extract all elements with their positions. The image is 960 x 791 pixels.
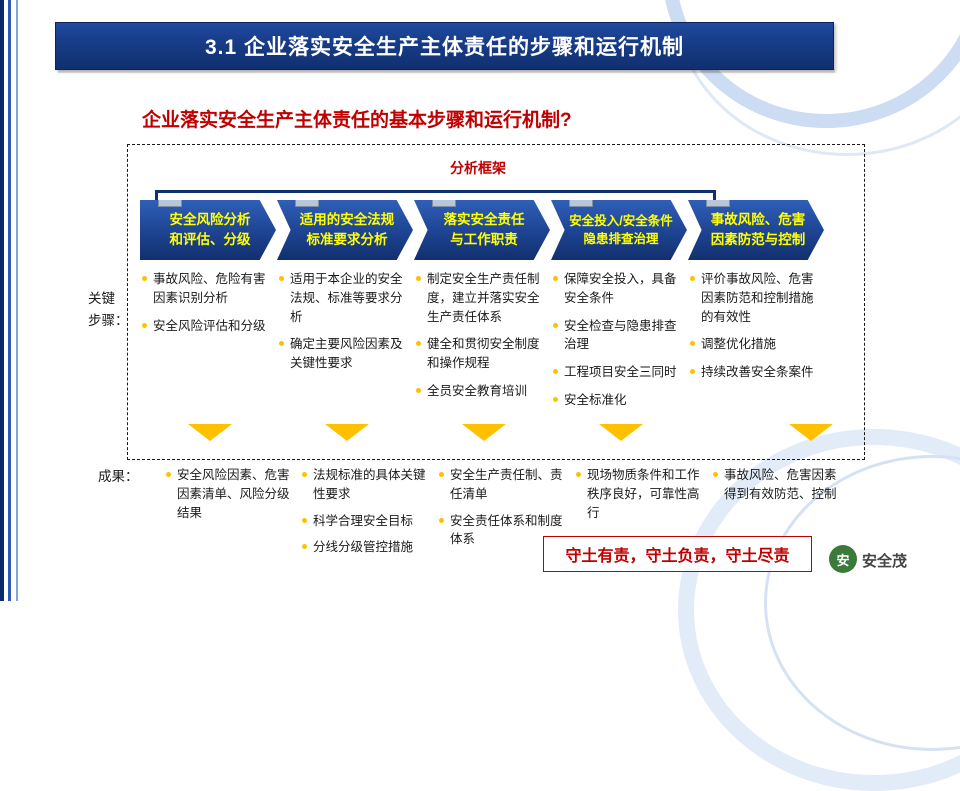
list-item: 科学合理安全目标 — [300, 512, 434, 531]
step-chevron-4[interactable]: 4 安全投入/安全条件 隐患排查治理 — [551, 200, 687, 260]
result-column-4: 现场物质条件和工作秩序良好，可靠性高行 — [574, 466, 708, 530]
result-column-2: 法规标准的具体关键性要求 科学合理安全目标 分线分级管控措施 — [300, 466, 434, 565]
step-heading-5-line1: 事故风险、危害 — [711, 210, 806, 230]
list-item: 安全标准化 — [551, 391, 687, 410]
step-column-4[interactable]: 4 安全投入/安全条件 隐患排查治理 保障安全投入，具备安全条件 安全检查与隐患… — [551, 200, 687, 419]
slide-title-bar: 3.1 企业落实安全生产主体责任的步骤和运行机制 — [55, 22, 834, 70]
list-item: 现场物质条件和工作秩序良好，可靠性高行 — [574, 466, 708, 522]
list-item: 健全和贯彻安全制度和操作规程 — [414, 335, 550, 373]
down-arrow-5 — [789, 424, 833, 441]
step-column-1[interactable]: 1 安全风险分析 和评估、分级 事故风险、危险有害因素识别分析 安全风险评估和分… — [140, 200, 276, 344]
result-column-1: 安全风险因素、危害因素清单、风险分级结果 — [164, 466, 298, 530]
list-item: 分线分级管控措施 — [300, 538, 434, 557]
down-arrow-4 — [599, 424, 643, 441]
key-steps-label: 关键 步骤： — [88, 288, 132, 331]
slogan-box: 守土有责，守土负责，守土尽责 — [543, 536, 812, 572]
list-item: 工程项目安全三同时 — [551, 363, 687, 382]
down-arrow-3 — [462, 424, 506, 441]
results-label: 成果： — [98, 466, 139, 488]
list-item: 事故风险、危害因素得到有效防范、控制 — [711, 466, 845, 504]
list-item: 安全风险评估和分级 — [140, 317, 276, 336]
list-item: 事故风险、危险有害因素识别分析 — [140, 270, 276, 308]
down-arrow-1 — [188, 424, 232, 441]
step-heading-5-line2: 因素防范与控制 — [711, 230, 806, 250]
step-heading-1-line2: 和评估、分级 — [170, 230, 251, 250]
step-heading-4-line1: 安全投入/安全条件 — [569, 212, 672, 230]
list-item: 保障安全投入，具备安全条件 — [551, 270, 687, 308]
step-chevron-2[interactable]: 2 适用的安全法规 标准要求分析 — [277, 200, 413, 260]
page-title: 3.1 企业落实安全生产主体责任的步骤和运行机制 — [205, 31, 684, 61]
down-arrow-2 — [325, 424, 369, 441]
list-item: 持续改善安全条案件 — [688, 363, 824, 382]
list-item: 法规标准的具体关键性要求 — [300, 466, 434, 504]
step-chevron-3[interactable]: 3 落实安全责任 与工作职责 — [414, 200, 550, 260]
step-chevron-5[interactable]: 5 事故风险、危害 因素防范与控制 — [688, 200, 824, 260]
step-column-5[interactable]: 5 事故风险、危害 因素防范与控制 评价事故风险、危害因素防范和控制措施的有效性… — [688, 200, 824, 391]
step-heading-4-line2: 隐患排查治理 — [569, 230, 672, 248]
watermark-logo-icon: 安 — [829, 545, 857, 573]
step-column-3[interactable]: 3 落实安全责任 与工作职责 制定安全生产责任制度，建立并落实安全生产责任体系 … — [414, 200, 550, 410]
result-column-5: 事故风险、危害因素得到有效防范、控制 — [711, 466, 845, 512]
step-bullets-2: 适用于本企业的安全法规、标准等要求分析 确定主要风险因素及关键性要求 — [277, 270, 413, 373]
list-item: 安全风险因素、危害因素清单、风险分级结果 — [164, 466, 298, 522]
step-bullets-1: 事故风险、危险有害因素识别分析 安全风险评估和分级 — [140, 270, 276, 335]
top-connector-line — [155, 190, 715, 193]
list-item: 全员安全教育培训 — [414, 382, 550, 401]
step-column-2[interactable]: 2 适用的安全法规 标准要求分析 适用于本企业的安全法规、标准等要求分析 确定主… — [277, 200, 413, 382]
step-bullets-5: 评价事故风险、危害因素防范和控制措施的有效性 调整优化措施 持续改善安全条案件 — [688, 270, 824, 382]
step-heading-2-line2: 标准要求分析 — [300, 230, 395, 250]
watermark-label: 安全茂 — [862, 550, 907, 571]
list-item: 安全生产责任制、责任清单 — [437, 466, 571, 504]
step-bullets-4: 保障安全投入，具备安全条件 安全检查与隐患排查治理 工程项目安全三同时 安全标准… — [551, 270, 687, 410]
list-item: 评价事故风险、危害因素防范和控制措施的有效性 — [688, 270, 824, 326]
key-steps-label-line1: 关键 — [88, 288, 132, 310]
step-heading-2-line1: 适用的安全法规 — [300, 210, 395, 230]
left-stripe-decoration — [0, 0, 26, 601]
list-item: 适用于本企业的安全法规、标准等要求分析 — [277, 270, 413, 326]
step-heading-3-line2: 与工作职责 — [444, 230, 525, 250]
list-item: 确定主要风险因素及关键性要求 — [277, 335, 413, 373]
list-item: 制定安全生产责任制度，建立并落实安全生产责任体系 — [414, 270, 550, 326]
step-heading-1-line1: 安全风险分析 — [170, 210, 251, 230]
question-heading: 企业落实安全生产主体责任的基本步骤和运行机制? — [142, 105, 572, 132]
key-steps-label-line2: 步骤： — [88, 310, 132, 332]
framework-label: 分析框架 — [450, 158, 506, 178]
step-chevron-1[interactable]: 1 安全风险分析 和评估、分级 — [140, 200, 276, 260]
list-item: 安全检查与隐患排查治理 — [551, 317, 687, 355]
step-heading-3-line1: 落实安全责任 — [444, 210, 525, 230]
list-item: 调整优化措施 — [688, 335, 824, 354]
step-bullets-3: 制定安全生产责任制度，建立并落实安全生产责任体系 健全和贯彻安全制度和操作规程 … — [414, 270, 550, 401]
